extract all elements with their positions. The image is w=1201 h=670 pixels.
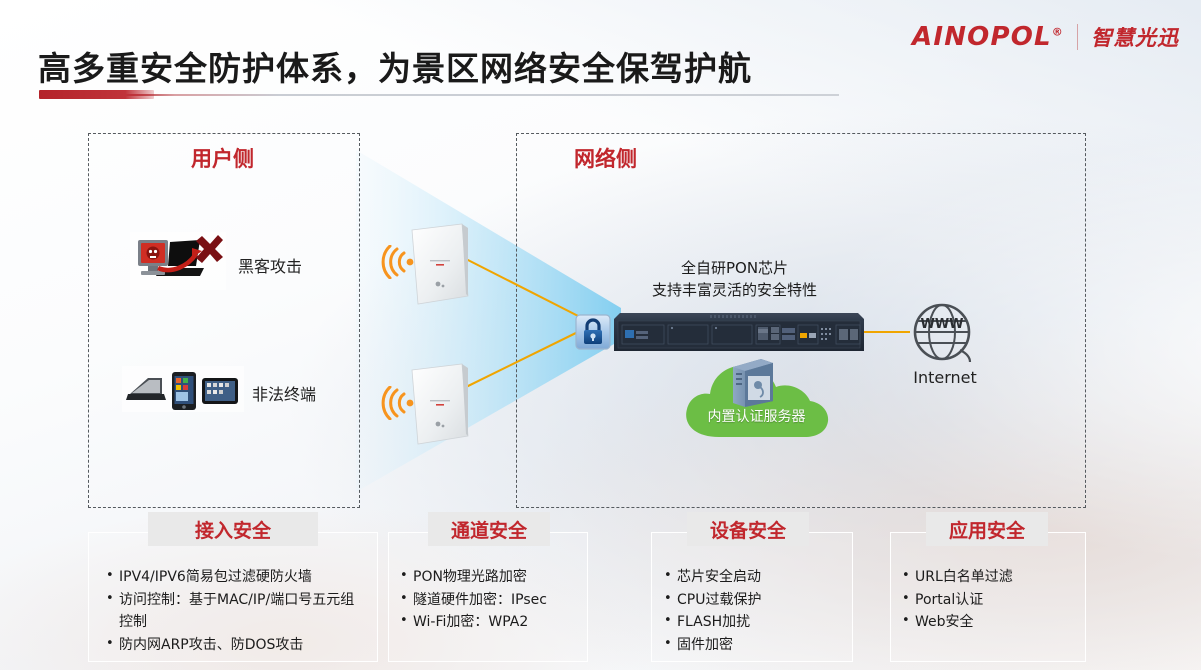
list-item: URL白名单过滤 [900,566,1090,589]
list-item: 防内网ARP攻击、防DOS攻击 [104,634,366,657]
security-box-application-title: 应用安全 [926,512,1048,546]
internet-globe-icon: WWW [908,302,980,364]
security-box-access-title: 接入安全 [148,512,318,546]
pon-chip-description: 全自研PON芯片 支持丰富灵活的安全特性 [652,258,817,302]
internet-label: Internet [886,368,1004,387]
logo-wordmark: AINOPOL® [912,22,1064,52]
illegal-terminal-icon [122,366,244,412]
logo-chinese-text: 智慧光迅 [1091,22,1179,52]
list-item: CPU过载保护 [662,589,854,612]
auth-server-label: 内置认证服务器 [679,406,834,426]
security-box-channel-title: 通道安全 [428,512,550,546]
pon-chip-line-2: 支持丰富灵活的安全特性 [652,280,817,302]
logo-divider [1077,24,1078,50]
security-box-access-list: IPV4/IPV6简易包过滤硬防火墙 访问控制：基于MAC/IP/端口号五元组控… [104,566,366,657]
list-item: 芯片安全启动 [662,566,854,589]
security-box-device-list: 芯片安全启动 CPU过载保护 FLASH加扰 固件加密 [662,566,854,657]
globe-www-text: WWW [920,317,963,332]
security-box-channel-list: PON物理光路加密 隧道硬件加密：IPsec Wi-Fi加密：WPA2 [398,566,590,634]
wifi-signal-top-icon [381,245,415,279]
wireless-ap-top [408,222,470,306]
list-item: 隧道硬件加密：IPsec [398,589,590,612]
user-side-title: 用户侧 [191,143,254,173]
slide-canvas: AINOPOL® 智慧光迅 高多重安全防护体系，为景区网络安全保驾护航 用户侧 … [0,0,1201,670]
list-item: FLASH加扰 [662,611,854,634]
network-side-title: 网络侧 [574,143,637,173]
wireless-ap-bottom [408,362,470,446]
brand-logo: AINOPOL® 智慧光迅 [912,22,1179,52]
hacker-attack-label: 黑客攻击 [238,253,302,277]
security-lock-icon [575,314,611,350]
page-title: 高多重安全防护体系，为景区网络安全保驾护航 [38,42,752,90]
list-item: Wi-Fi加密：WPA2 [398,611,590,634]
list-item: IPV4/IPV6简易包过滤硬防火墙 [104,566,366,589]
internet-uplink-line [862,331,910,333]
pon-chip-line-1: 全自研PON芯片 [652,258,817,280]
list-item: Portal认证 [900,589,1090,612]
server-icon [731,357,775,407]
security-box-application-list: URL白名单过滤 Portal认证 Web安全 [900,566,1090,634]
list-item: PON物理光路加密 [398,566,590,589]
illegal-terminal-label: 非法终端 [252,381,316,405]
title-underline [39,94,839,96]
title-accent-bar [39,90,154,99]
list-item: 固件加密 [662,634,854,657]
list-item: 访问控制：基于MAC/IP/端口号五元组控制 [104,589,366,634]
logo-wordmark-text: AINOPOL [912,22,1052,52]
olt-rack-device [614,311,864,353]
hacker-attack-icon [130,232,226,290]
user-side-panel [88,133,360,508]
logo-registered-mark: ® [1052,25,1064,38]
wifi-signal-bottom-icon [381,386,415,420]
security-box-device-title: 设备安全 [687,512,809,546]
list-item: Web安全 [900,611,1090,634]
